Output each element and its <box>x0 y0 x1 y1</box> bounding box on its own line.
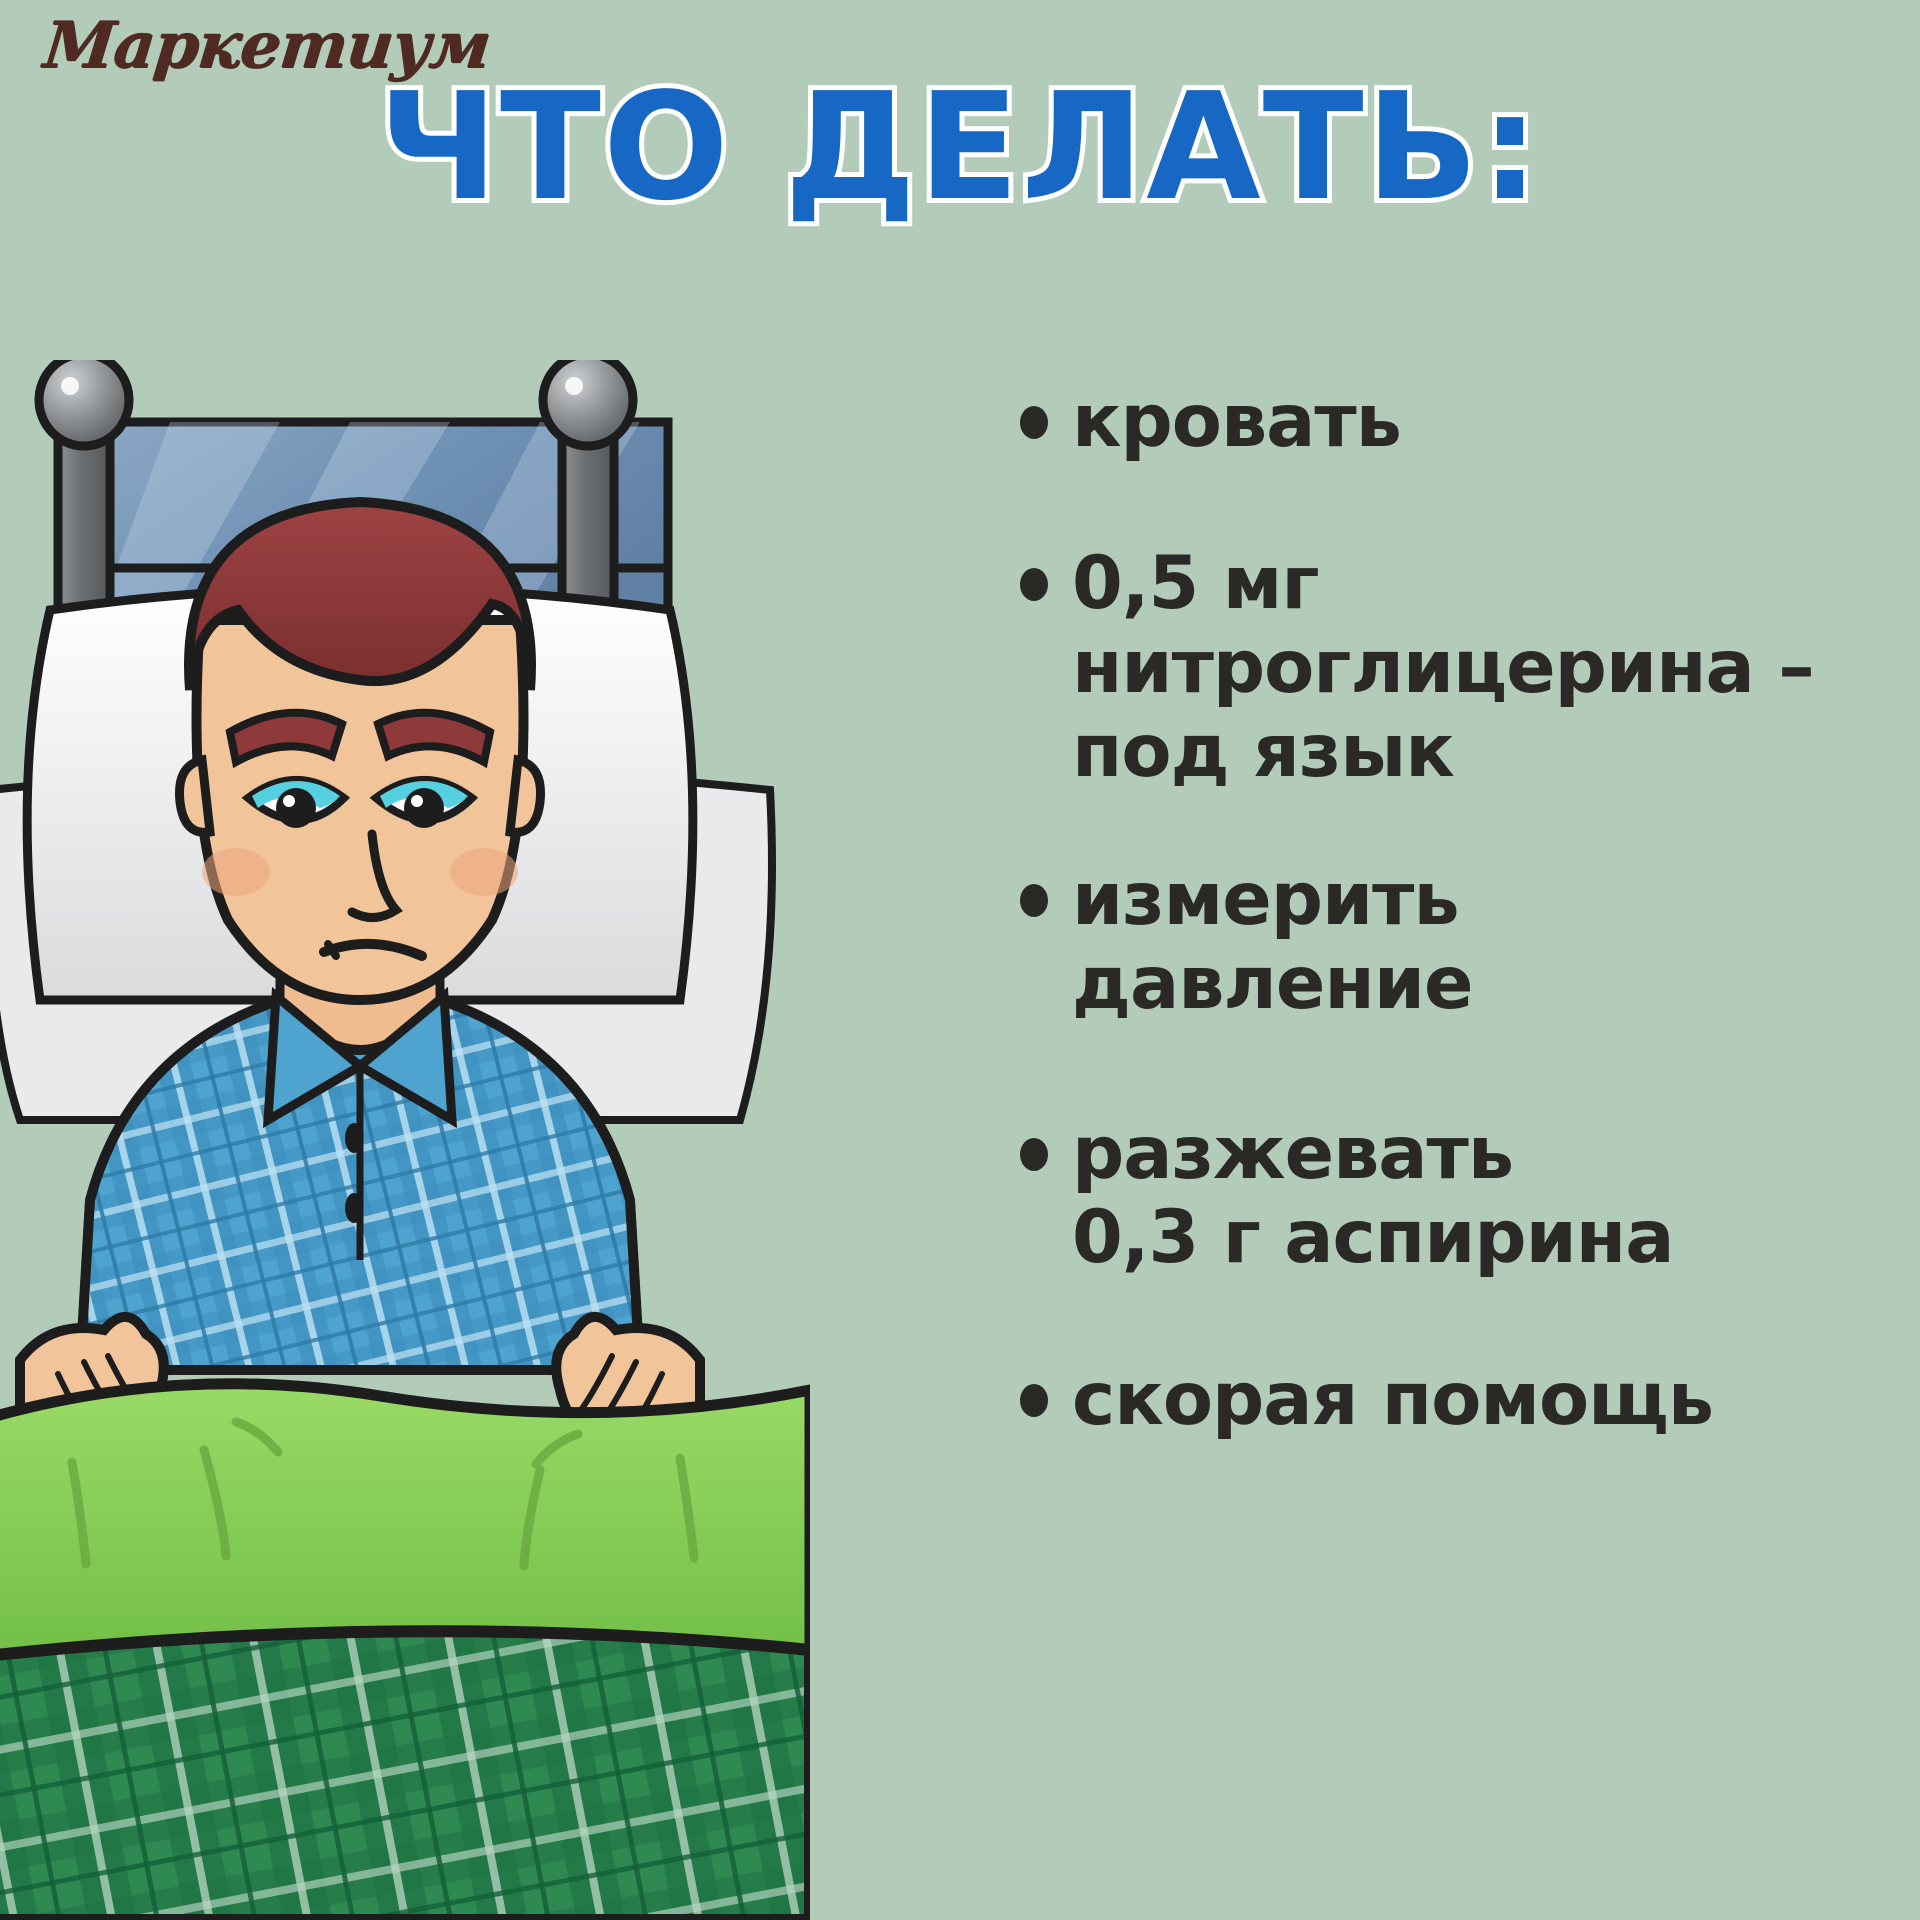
bed-sheet <box>0 1384 810 1660</box>
page-title: ЧТО ДЕЛАТЬ: <box>0 72 1920 222</box>
instruction-list: кровать 0,5 мг нитроглицерина – под язык… <box>1010 380 1880 1510</box>
list-item: разжевать 0,3 г аспирина <box>1010 1112 1880 1280</box>
list-item: скорая помощь <box>1010 1358 1880 1442</box>
bed-blanket <box>0 1631 810 1920</box>
list-item: 0,5 мг нитроглицерина – под язык <box>1010 542 1880 794</box>
list-item: кровать <box>1010 380 1880 464</box>
illustration-man-in-bed <box>0 360 810 1920</box>
poster-canvas: Маркетиум ЧТО ДЕЛАТЬ: <box>0 0 1920 1920</box>
list-item: измерить давление <box>1010 858 1880 1026</box>
